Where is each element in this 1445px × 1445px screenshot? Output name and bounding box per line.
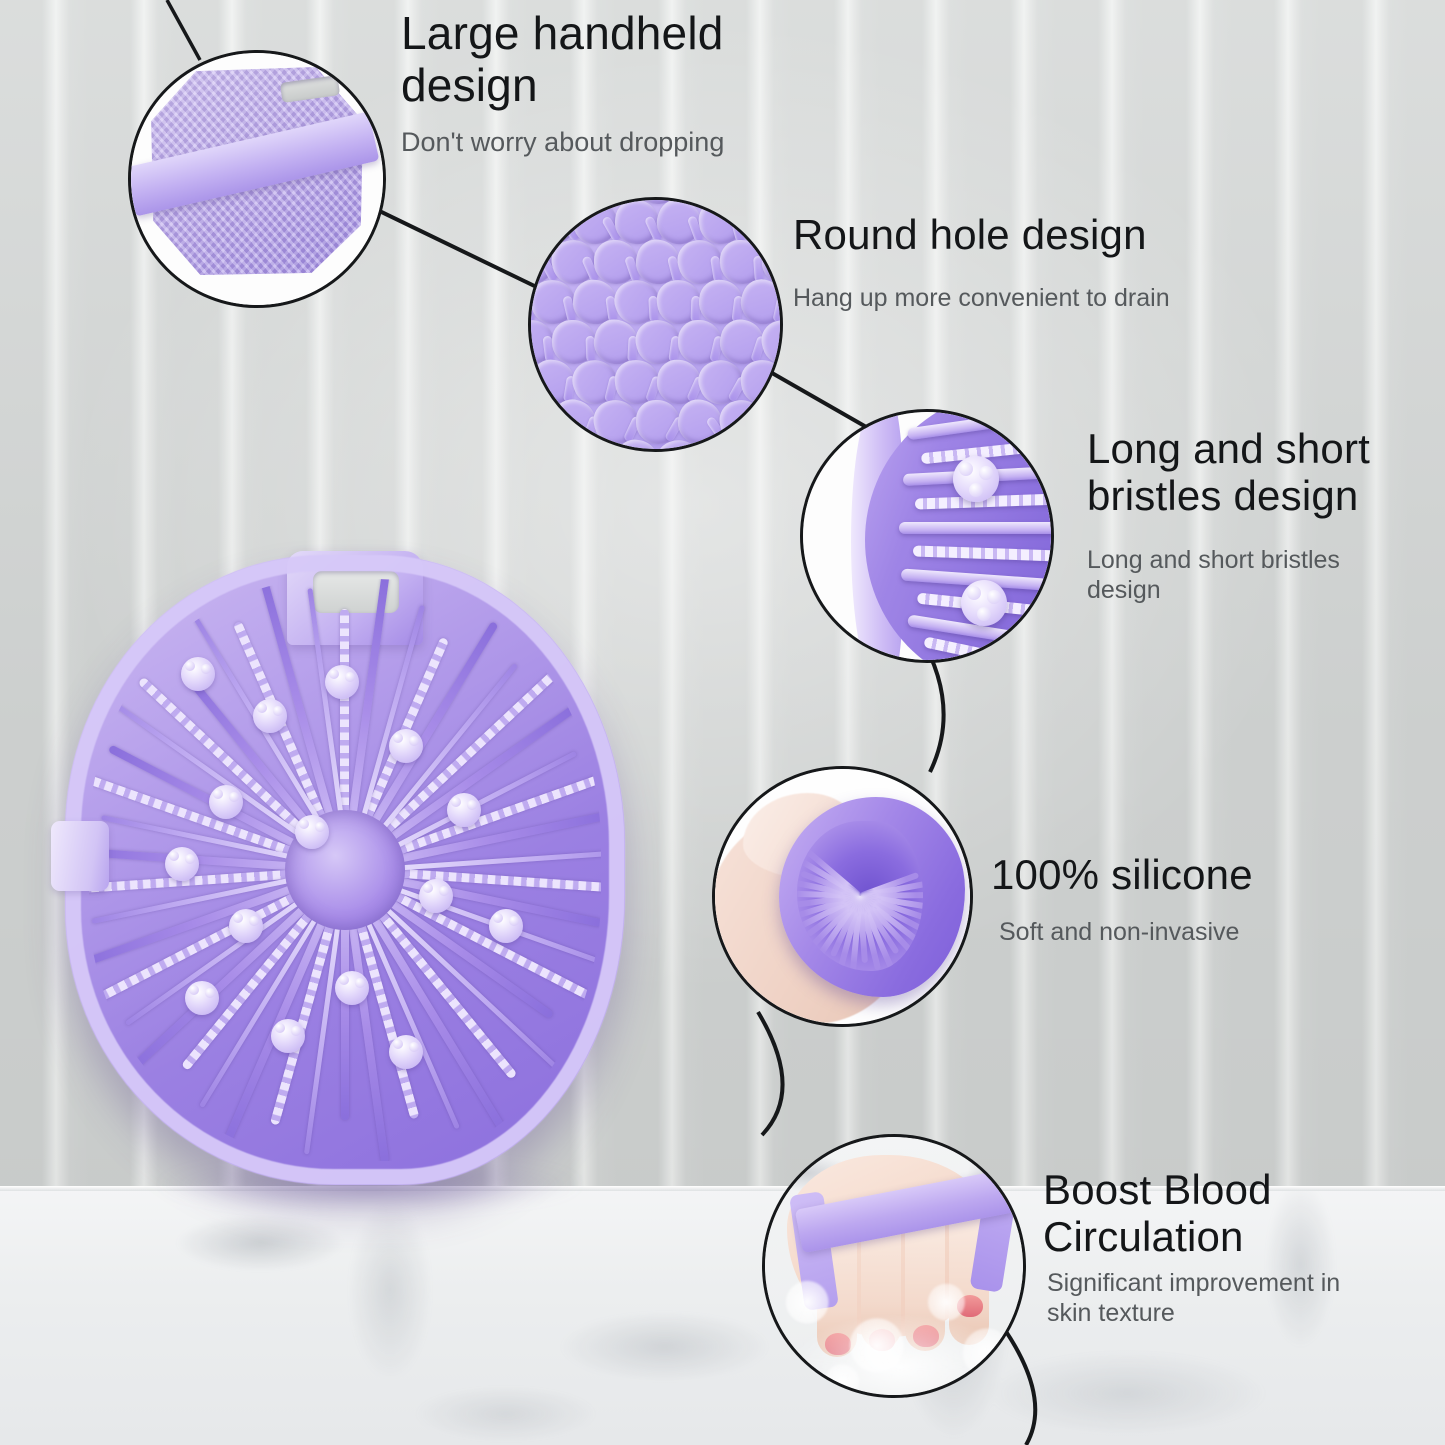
callout-subtitle-100-percent-silicone: Soft and non-invasive [999, 917, 1419, 947]
main-product-image [55, 545, 675, 1205]
callout-image-100-percent-silicone[interactable] [712, 766, 973, 1027]
callout-subtitle-long-and-short-bristles-design: Long and short bristles design [1087, 545, 1387, 605]
bristle-nub [961, 580, 1007, 626]
bristle-nub [953, 456, 999, 502]
callout-image-large-handheld-design[interactable] [128, 50, 386, 308]
callout-title-boost-blood-circulation: Boost Blood Circulation [1043, 1166, 1373, 1260]
bubble-5-inner [765, 1137, 1023, 1395]
callout-subtitle-boost-blood-circulation: Significant improvement in skin texture [1047, 1268, 1377, 1328]
product-infographic: Large handheld design Don't worry about … [0, 0, 1445, 1445]
product-strap-tab [51, 821, 109, 891]
callout-title-long-and-short-bristles-design: Long and short bristles design [1087, 425, 1427, 519]
bubble-3-inner [803, 412, 1051, 660]
callout-subtitle-round-hole-design: Hang up more convenient to drain [793, 283, 1333, 313]
bubble-1-inner [131, 53, 383, 305]
callout-title-round-hole-design: Round hole design [793, 211, 1293, 258]
callout-image-boost-blood-circulation[interactable] [762, 1134, 1026, 1398]
product-rim [65, 555, 625, 1185]
connector-line-4-5 [758, 1012, 783, 1135]
callout-subtitle-large-handheld-design: Don't worry about dropping [401, 126, 921, 158]
connector-line-top-stub [167, 0, 200, 60]
callout-title-100-percent-silicone: 100% silicone [991, 851, 1411, 898]
long-bristle-row [899, 522, 1051, 534]
callout-title-large-handheld-design: Large handheld design [401, 8, 861, 111]
callout-image-long-and-short-bristles-design[interactable] [800, 409, 1054, 663]
callout-image-round-hole-design[interactable] [528, 197, 783, 452]
bubble-4-inner [715, 769, 970, 1024]
soap-foam [765, 1241, 1023, 1395]
flexed-brush-bristle-cup [797, 821, 923, 971]
bubble-2-inner [531, 200, 780, 449]
connector-line-1-2 [367, 205, 551, 294]
